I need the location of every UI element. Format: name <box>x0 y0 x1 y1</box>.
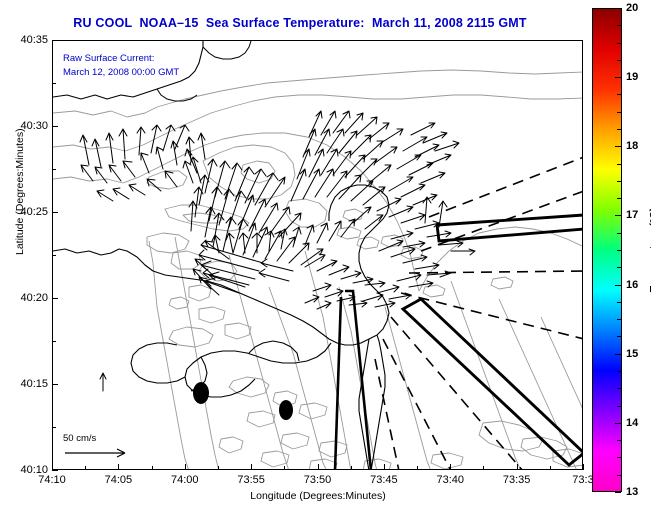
colorbar-tick-mark <box>615 285 621 286</box>
colorbar-tick-label: 19 <box>626 71 638 83</box>
x-tick-label: 73:40 <box>436 474 464 486</box>
map-graphics <box>53 41 583 470</box>
y-tick-label: 40:35 <box>8 34 48 46</box>
y-minor-tick <box>52 341 56 342</box>
colorbar-tick-mark <box>615 354 621 355</box>
x-minor-tick <box>218 466 219 470</box>
scale-bar-arrow <box>63 444 133 462</box>
colorbar-minor-tick <box>617 60 621 61</box>
colorbar-tick-label: 16 <box>626 279 638 291</box>
x-axis-title: Longitude (Degrees:Minutes) <box>250 490 385 502</box>
y-axis-title: Latitude (Degrees:Minutes) <box>14 128 26 255</box>
colorbar-minor-tick <box>617 164 621 165</box>
colorbar-minor-tick <box>617 302 621 303</box>
colorbar-tick-label: 15 <box>626 348 638 360</box>
annotation-raw-surface-current: Raw Surface Current: <box>63 53 154 65</box>
colorbar-minor-tick <box>617 129 621 130</box>
y-tick-mark <box>52 212 58 213</box>
colorbar-minor-tick <box>617 25 621 26</box>
x-tick-mark <box>583 464 584 470</box>
x-minor-tick <box>550 466 551 470</box>
figure-title: RU COOL NOAA–15 Sea Surface Temperature:… <box>0 16 600 30</box>
y-tick-label: 40:10 <box>8 464 48 476</box>
colorbar-minor-tick <box>617 371 621 372</box>
y-tick-mark <box>52 298 58 299</box>
x-minor-tick <box>351 466 352 470</box>
y-tick-mark <box>52 384 58 385</box>
y-minor-tick <box>52 83 56 84</box>
colorbar-minor-tick <box>617 267 621 268</box>
x-tick-label: 73:45 <box>370 474 398 486</box>
colorbar-minor-tick <box>617 112 621 113</box>
x-tick-mark <box>318 464 319 470</box>
colorbar-tick-label: 13 <box>626 486 638 498</box>
x-tick-label: 73:3 <box>572 474 593 486</box>
colorbar-minor-tick <box>617 406 621 407</box>
colorbar-minor-tick <box>617 94 621 95</box>
y-tick-mark <box>52 40 58 41</box>
colorbar-tick-label: 20 <box>626 2 638 14</box>
x-tick-mark <box>384 464 385 470</box>
x-tick-mark <box>251 464 252 470</box>
x-tick-label: 73:55 <box>237 474 265 486</box>
coastline <box>53 41 389 470</box>
x-tick-mark <box>517 464 518 470</box>
x-tick-mark <box>185 464 186 470</box>
colorbar-tick-mark <box>615 492 621 493</box>
colorbar-tick-mark <box>615 215 621 216</box>
scale-bar-label: 50 cm/s <box>63 433 133 444</box>
x-tick-label: 73:35 <box>503 474 531 486</box>
colorbar-tick-mark <box>615 8 621 9</box>
annotation-timestamp: March 12, 2008 00:00 GMT <box>63 67 179 79</box>
colorbar-minor-tick <box>617 457 621 458</box>
x-tick-label: 74:00 <box>171 474 199 486</box>
colorbar-tick-label: 17 <box>626 209 638 221</box>
colorbar-minor-tick <box>617 319 621 320</box>
colorbar-minor-tick <box>617 43 621 44</box>
colorbar-tick-mark <box>615 146 621 147</box>
x-tick-label: 74:05 <box>105 474 133 486</box>
colorbar-minor-tick <box>617 250 621 251</box>
colorbar-minor-tick <box>617 440 621 441</box>
y-minor-tick <box>52 255 56 256</box>
x-minor-tick <box>483 466 484 470</box>
x-minor-tick <box>85 466 86 470</box>
shipping-lane-bands <box>403 215 583 465</box>
x-minor-tick <box>152 466 153 470</box>
x-minor-tick <box>417 466 418 470</box>
colorbar-minor-tick <box>617 388 621 389</box>
colorbar-minor-tick <box>617 475 621 476</box>
x-minor-tick <box>284 466 285 470</box>
colorbar-tick-label: 14 <box>626 417 638 429</box>
y-tick-label: 40:15 <box>8 378 48 390</box>
station-markers <box>193 382 293 420</box>
y-minor-tick <box>52 169 56 170</box>
y-tick-mark <box>52 126 58 127</box>
colorbar-minor-tick <box>617 233 621 234</box>
colorbar-minor-tick <box>617 198 621 199</box>
colorbar-minor-tick <box>617 336 621 337</box>
x-tick-mark <box>450 464 451 470</box>
colorbar-minor-tick <box>617 181 621 182</box>
figure-canvas: RU COOL NOAA–15 Sea Surface Temperature:… <box>0 0 651 518</box>
y-tick-label: 40:20 <box>8 292 48 304</box>
y-tick-mark <box>52 470 58 471</box>
map-plot-area[interactable]: Raw Surface Current: March 12, 2008 00:0… <box>52 40 583 470</box>
colorbar-tick-mark <box>615 77 621 78</box>
velocity-scale-bar: 50 cm/s <box>63 433 133 467</box>
y-minor-tick <box>52 427 56 428</box>
colorbar-tick-mark <box>615 423 621 424</box>
colorbar-tick-label: 18 <box>626 140 638 152</box>
x-tick-label: 73:50 <box>304 474 332 486</box>
x-tick-mark <box>118 464 119 470</box>
